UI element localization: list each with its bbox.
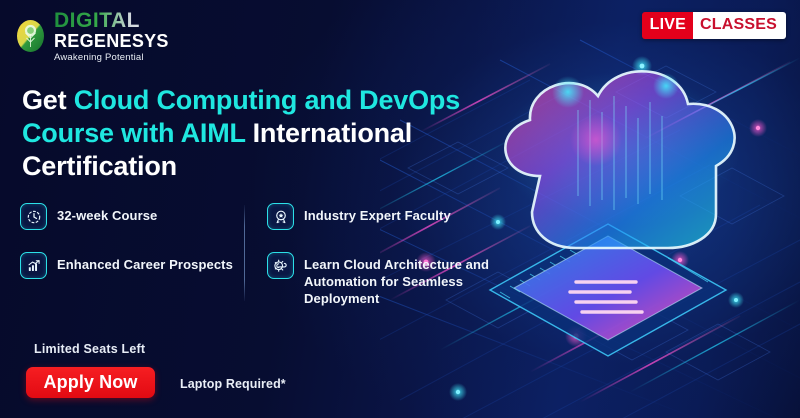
- logo-name-secondary: REGENESYS: [54, 32, 169, 50]
- feature-label: Learn Cloud Architecture and Automation …: [304, 252, 495, 307]
- feature-item: 32-week Course: [20, 203, 244, 230]
- tree-emblem-icon: [14, 18, 47, 54]
- feature-column-right: Industry Expert Faculty: [245, 203, 495, 307]
- feature-item: Learn Cloud Architecture and Automation …: [267, 252, 495, 307]
- cloud-gear-icon: [267, 252, 294, 279]
- feature-label: Enhanced Career Prospects: [57, 252, 233, 273]
- promo-banner: DIGITAL REGENESYS Awakening Potential LI…: [0, 0, 800, 418]
- clock-icon: [20, 203, 47, 230]
- live-label: LIVE: [642, 12, 693, 39]
- logo-tagline: Awakening Potential: [54, 53, 169, 63]
- page-title: Get Cloud Computing and DevOps Course wi…: [22, 84, 522, 183]
- live-classes-badge: LIVE CLASSES: [642, 12, 786, 39]
- brand-logo[interactable]: DIGITAL REGENESYS Awakening Potential: [14, 10, 169, 63]
- growth-chart-icon: [20, 252, 47, 279]
- limited-seats-text: Limited Seats Left: [34, 342, 145, 356]
- feature-label: Industry Expert Faculty: [304, 203, 451, 224]
- award-badge-icon: [267, 203, 294, 230]
- feature-item: Industry Expert Faculty: [267, 203, 495, 230]
- feature-label: 32-week Course: [57, 203, 157, 224]
- feature-item: Enhanced Career Prospects: [20, 252, 244, 279]
- apply-now-button[interactable]: Apply Now: [26, 367, 155, 398]
- classes-label: CLASSES: [693, 12, 786, 39]
- laptop-required-note: Laptop Required*: [180, 377, 286, 391]
- feature-column-left: 32-week Course Enhanced Career Prospects: [20, 203, 244, 307]
- logo-name-primary: DIGITAL: [54, 10, 169, 31]
- feature-list: 32-week Course Enhanced Career Prospects: [20, 203, 520, 307]
- headline-part-1: Get: [22, 85, 74, 115]
